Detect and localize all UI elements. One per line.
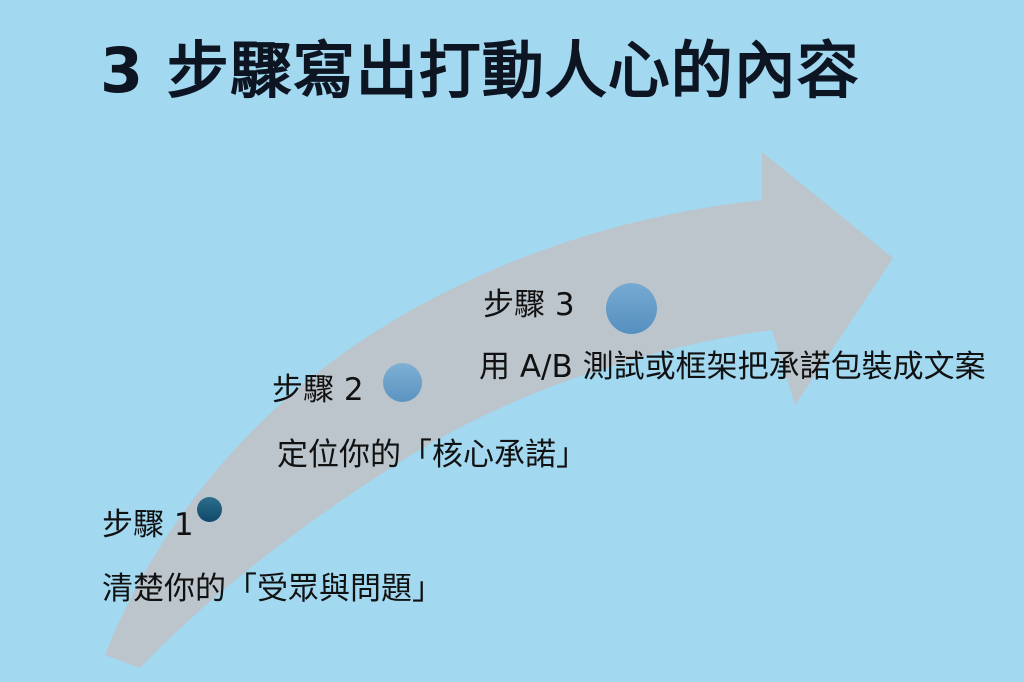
step-2-description: 定位你的「核心承諾」 [277,438,587,474]
step-1-description: 清楚你的「受眾與問題」 [102,572,443,608]
step-2-milestone-dot [383,363,422,402]
step-3-description: 用 A/B 測試或框架把承諾包裝成文案 [479,350,986,386]
step-1-milestone-dot [197,497,222,522]
step-1-label: 步驟 1 [102,508,194,544]
step-3-milestone-dot [606,283,657,334]
page-title: 3 步驟寫出打動人心的內容 [100,36,860,105]
slide-canvas: 3 步驟寫出打動人心的內容 步驟 3 用 A/B 測試或框架把承諾包裝成文案 步… [0,0,1024,682]
step-3-label: 步驟 3 [483,288,575,324]
step-2-label: 步驟 2 [272,373,364,409]
